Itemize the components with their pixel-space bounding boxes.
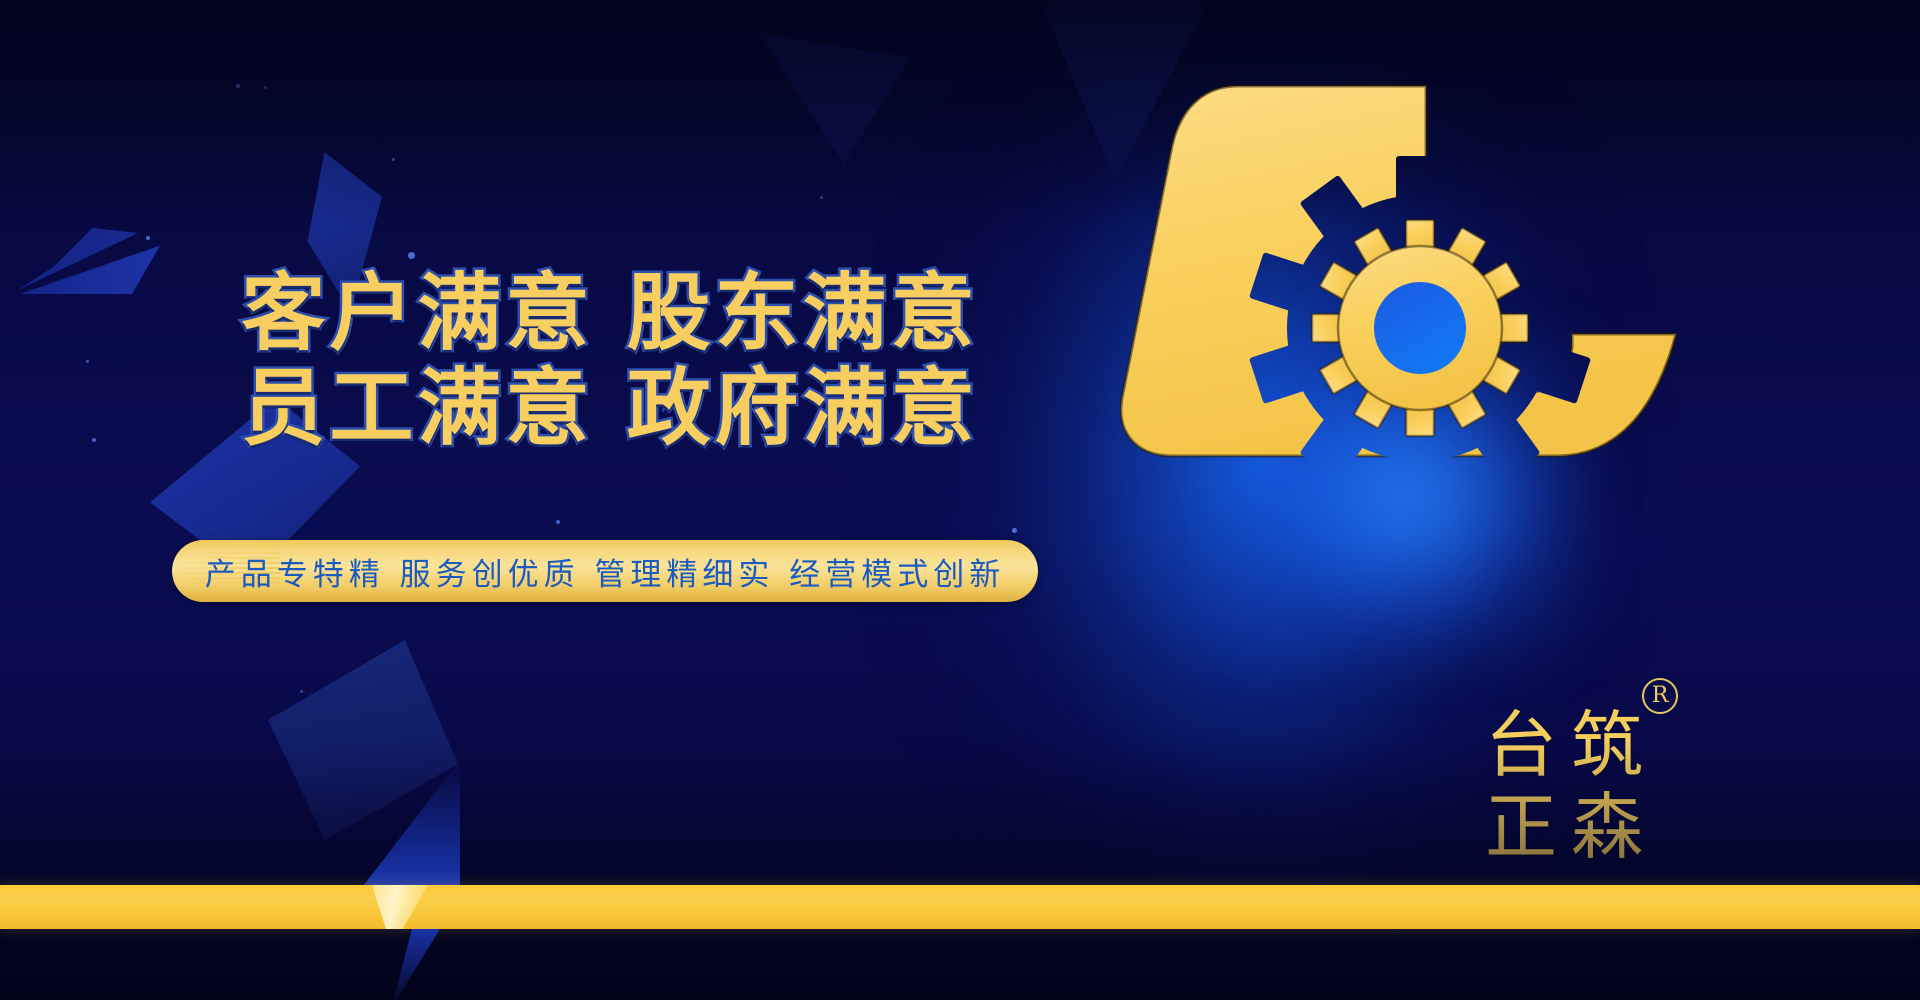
star-dot xyxy=(86,360,89,363)
background-bottom-vignette xyxy=(0,740,1920,1000)
star-dot xyxy=(408,252,415,259)
gold-bar-highlight xyxy=(330,885,470,929)
gear-emblem xyxy=(1120,80,1680,480)
star-dot xyxy=(300,690,303,693)
main-slogan: 客户满意 股东满意 员工满意 政府满意 xyxy=(200,268,1020,452)
star-dot xyxy=(146,236,150,240)
slogan-line-1: 客户满意 股东满意 xyxy=(200,268,1020,357)
registered-trademark-icon: R xyxy=(1642,678,1678,714)
star-dot xyxy=(1012,528,1017,533)
slogan-line-2: 员工满意 政府满意 xyxy=(200,363,1020,452)
tagline-pill: 产品专特精 服务创优质 管理精细实 经营模式创新 xyxy=(150,540,1040,602)
star-dot xyxy=(556,520,560,524)
bottom-gold-bar xyxy=(0,885,1920,929)
poster-canvas: 客户满意 股东满意 员工满意 政府满意 产品专特精 服务创优质 管理精细实 经营… xyxy=(0,0,1920,1000)
star-dot xyxy=(92,438,96,442)
tagline-pill-text: 产品专特精 服务创优质 管理精细实 经营模式创新 xyxy=(172,540,1038,602)
